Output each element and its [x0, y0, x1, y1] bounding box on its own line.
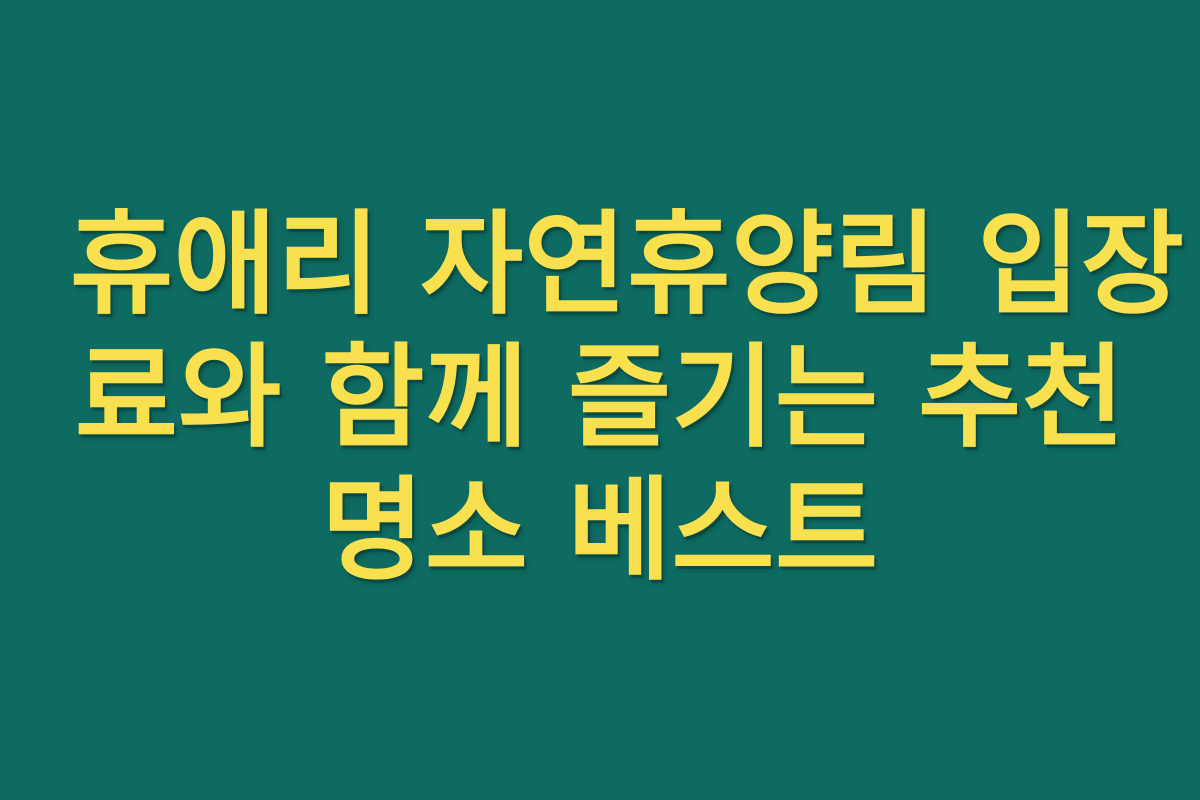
banner-title-line-1: 휴애리 자연휴양림 입장 — [70, 199, 1130, 332]
banner-title-line-3: 명소 베스트 — [70, 465, 1130, 598]
banner-title-block: 휴애리 자연휴양림 입장 료와 함께 즐기는 추천 명소 베스트 — [70, 199, 1130, 598]
banner-canvas: 휴애리 자연휴양림 입장 료와 함께 즐기는 추천 명소 베스트 — [0, 0, 1200, 800]
banner-title-line-2: 료와 함께 즐기는 추천 — [70, 332, 1130, 465]
